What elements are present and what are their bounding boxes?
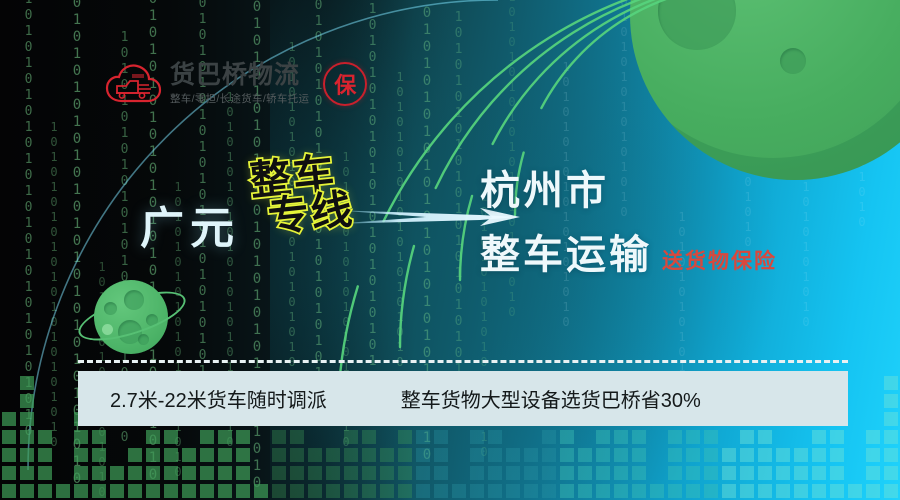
mosaic-cell [74, 466, 88, 480]
mosaic-cell [542, 448, 556, 462]
mosaic-cell [434, 430, 448, 444]
mosaic-cell [218, 484, 232, 498]
mosaic-cell [20, 412, 34, 426]
mosaic-cell [884, 466, 898, 480]
mosaic-cell [416, 466, 430, 480]
mosaic-cell [488, 430, 502, 444]
mosaic-cell [2, 430, 16, 444]
mosaic-cell [578, 466, 592, 480]
mosaic-cell [2, 412, 16, 426]
mosaic-cell [56, 484, 70, 498]
mosaic-cell [884, 484, 898, 498]
mosaic-cell [326, 466, 340, 480]
promo-banner: 1010101010101010101010101010101010101010… [0, 0, 900, 500]
mosaic-cell [614, 466, 628, 480]
mosaic-cell [92, 448, 106, 462]
mosaic-cell [326, 448, 340, 462]
mosaic-cell [596, 430, 610, 444]
mosaic-cell [740, 484, 754, 498]
mosaic-cell [164, 430, 178, 444]
mosaic-cell [74, 448, 88, 462]
mosaic-cell [884, 412, 898, 426]
mosaic-cell [146, 466, 160, 480]
mosaic-cell [452, 484, 466, 498]
destination-service: 整车运输 [480, 222, 652, 280]
mosaic-cell [812, 448, 826, 462]
mosaic-cell [722, 484, 736, 498]
mosaic-cell [416, 484, 430, 498]
mosaic-cell [308, 484, 322, 498]
mosaic-cell [740, 430, 754, 444]
mosaic-cell [632, 484, 646, 498]
mosaic-cell [182, 484, 196, 498]
mosaic-cell [362, 466, 376, 480]
mosaic-cell [668, 466, 682, 480]
mosaic-cell [812, 484, 826, 498]
mosaic-cell [128, 484, 142, 498]
mosaic-cell [236, 484, 250, 498]
mosaic-cell [290, 430, 304, 444]
mosaic-cell [614, 484, 628, 498]
mosaic-cell [632, 448, 646, 462]
mosaic-cell [686, 448, 700, 462]
mosaic-cell [128, 466, 142, 480]
mosaic-cell [362, 430, 376, 444]
footer-right-text: 整车货物大型设备选货巴桥省30% [401, 384, 701, 413]
mosaic-cell [866, 484, 880, 498]
cloud-truck-icon [104, 60, 162, 108]
mosaic-cell [470, 484, 484, 498]
mosaic-cell [668, 448, 682, 462]
mosaic-cell [650, 484, 664, 498]
mosaic-cell [20, 466, 34, 480]
mosaic-cell [218, 430, 232, 444]
mosaic-cell [146, 430, 160, 444]
mosaic-cell [92, 430, 106, 444]
mosaic-cell [470, 430, 484, 444]
mosaic-cell [686, 430, 700, 444]
mosaic-cell [290, 448, 304, 462]
mosaic-cell [740, 448, 754, 462]
mosaic-cell [74, 430, 88, 444]
mosaic-cell [704, 430, 718, 444]
mosaic-cell [614, 448, 628, 462]
mosaic-cell [884, 430, 898, 444]
mosaic-cell [38, 466, 52, 480]
mosaic-cell [776, 448, 790, 462]
mosaic-cell [866, 430, 880, 444]
mosaic-cell [38, 430, 52, 444]
destination-block: 杭州市 整车运输 送货物保险 [480, 158, 777, 280]
brand-logo[interactable]: 货巴桥物流 整车/零担/长途货车/轿车托运 保 [104, 60, 367, 108]
mosaic-cell [488, 448, 502, 462]
mosaic-cell [470, 448, 484, 462]
mosaic-cell [344, 466, 358, 480]
mosaic-cell [326, 484, 340, 498]
mosaic-cell [506, 484, 520, 498]
mosaic-cell [38, 484, 52, 498]
mosaic-cell [218, 448, 232, 462]
mosaic-cell [722, 448, 736, 462]
mosaic-cell [362, 448, 376, 462]
route-type-badge: 整车 专线 [248, 153, 355, 238]
mosaic-cell [488, 484, 502, 498]
mosaic-cell [470, 466, 484, 480]
mosaic-cell [776, 484, 790, 498]
mosaic-cell [668, 430, 682, 444]
mosaic-cell [704, 448, 718, 462]
mosaic-cell [578, 484, 592, 498]
mosaic-cell [20, 484, 34, 498]
mosaic-cell [20, 430, 34, 444]
mosaic-cell [884, 394, 898, 408]
mosaic-cell [236, 448, 250, 462]
mosaic-cell [722, 466, 736, 480]
mosaic-cell [164, 484, 178, 498]
mosaic-cell [794, 484, 808, 498]
mosaic-cell [740, 466, 754, 480]
mosaic-cell [596, 484, 610, 498]
mosaic-cell [254, 484, 268, 498]
insurance-badge: 保 [323, 62, 367, 106]
mosaic-cell [20, 376, 34, 390]
mosaic-cell [164, 448, 178, 462]
mosaic-cell [200, 430, 214, 444]
mosaic-cell [110, 484, 124, 498]
mosaic-cell [38, 448, 52, 462]
mosaic-cell [542, 430, 556, 444]
mosaic-cell [2, 448, 16, 462]
mosaic-cell [632, 430, 646, 444]
mosaic-cell [668, 484, 682, 498]
ringed-planet-icon [78, 272, 188, 362]
mosaic-cell [146, 484, 160, 498]
mosaic-cell [380, 448, 394, 462]
mosaic-cell [560, 448, 574, 462]
mosaic-cell [2, 466, 16, 480]
mosaic-cell [308, 448, 322, 462]
mosaic-cell [506, 466, 520, 480]
mosaic-cell [524, 484, 538, 498]
mosaic-cell [416, 448, 430, 462]
mosaic-cell [488, 466, 502, 480]
mosaic-cell [758, 466, 772, 480]
mosaic-cell [560, 484, 574, 498]
mosaic-cell [200, 466, 214, 480]
footer-left-text: 2.7米-22米货车随时调派 [110, 384, 327, 413]
mosaic-cell [398, 466, 412, 480]
mosaic-cell [434, 466, 448, 480]
mosaic-cell [164, 466, 178, 480]
mosaic-cell [20, 394, 34, 408]
mosaic-cell [506, 448, 520, 462]
insurance-tag: 送货物保险 [662, 245, 777, 280]
mosaic-cell [398, 430, 412, 444]
destination-city: 杭州市 [480, 158, 777, 216]
mosaic-cell [560, 430, 574, 444]
mosaic-cell [20, 448, 34, 462]
mosaic-cell [812, 466, 826, 480]
mosaic-cell [200, 484, 214, 498]
mosaic-cell [416, 430, 430, 444]
mosaic-cell [758, 430, 772, 444]
mosaic-cell [830, 448, 844, 462]
mosaic-cell [308, 466, 322, 480]
mosaic-cell [632, 466, 646, 480]
mosaic-cell [704, 466, 718, 480]
origin-city: 广元 [140, 192, 240, 256]
mosaic-cell [596, 448, 610, 462]
mosaic-cell [830, 484, 844, 498]
mosaic-cell [524, 466, 538, 480]
mosaic-cell [2, 484, 16, 498]
mosaic-cell [362, 484, 376, 498]
mosaic-cell [560, 466, 574, 480]
mosaic-cell [884, 448, 898, 462]
mosaic-cell [290, 466, 304, 480]
mosaic-cell [272, 484, 286, 498]
mosaic-cell [272, 430, 286, 444]
mosaic-cell [542, 484, 556, 498]
mosaic-cell [758, 448, 772, 462]
mosaic-cell [686, 484, 700, 498]
mosaic-cell [776, 466, 790, 480]
mosaic-cell [434, 484, 448, 498]
mosaic-cell [542, 466, 556, 480]
mosaic-cell [434, 448, 448, 462]
mosaic-cell [830, 430, 844, 444]
mosaic-cell [272, 448, 286, 462]
mosaic-cell [236, 430, 250, 444]
route-badge-line2: 专线 [266, 190, 355, 237]
brand-name: 货巴桥物流 [170, 62, 309, 88]
mosaic-cell [398, 448, 412, 462]
mosaic-cell [344, 484, 358, 498]
mosaic-cell [344, 448, 358, 462]
mosaic-cell [866, 448, 880, 462]
mosaic-cell [830, 466, 844, 480]
mosaic-cell [74, 484, 88, 498]
mosaic-cell [272, 466, 286, 480]
mosaic-cell [182, 466, 196, 480]
mosaic-cell [848, 484, 862, 498]
mosaic-cell [290, 484, 304, 498]
mosaic-cell [686, 466, 700, 480]
mosaic-cell [110, 466, 124, 480]
mosaic-cell [344, 430, 358, 444]
mosaic-cell [380, 484, 394, 498]
mosaic-cell [614, 430, 628, 444]
mosaic-cell [866, 466, 880, 480]
mosaic-cell [218, 466, 232, 480]
mosaic-cell [794, 448, 808, 462]
mosaic-cell [794, 466, 808, 480]
mosaic-cell [146, 448, 160, 462]
mosaic-cell [596, 466, 610, 480]
mosaic-cell [200, 448, 214, 462]
dashed-divider [78, 360, 848, 363]
mosaic-cell [578, 448, 592, 462]
mosaic-cell [236, 466, 250, 480]
mosaic-cell [128, 448, 142, 462]
footer-bar: 2.7米-22米货车随时调派 整车货物大型设备选货巴桥省30% [78, 371, 848, 426]
mosaic-cell [884, 376, 898, 390]
mosaic-cell [812, 430, 826, 444]
mosaic-cell [524, 448, 538, 462]
mosaic-cell [704, 484, 718, 498]
mosaic-cell [758, 484, 772, 498]
mosaic-cell [92, 484, 106, 498]
mosaic-cell [398, 484, 412, 498]
mosaic-cell [92, 466, 106, 480]
brand-tagline: 整车/零担/长途货车/轿车托运 [170, 91, 309, 106]
mosaic-cell [380, 466, 394, 480]
mosaic-cell [182, 448, 196, 462]
